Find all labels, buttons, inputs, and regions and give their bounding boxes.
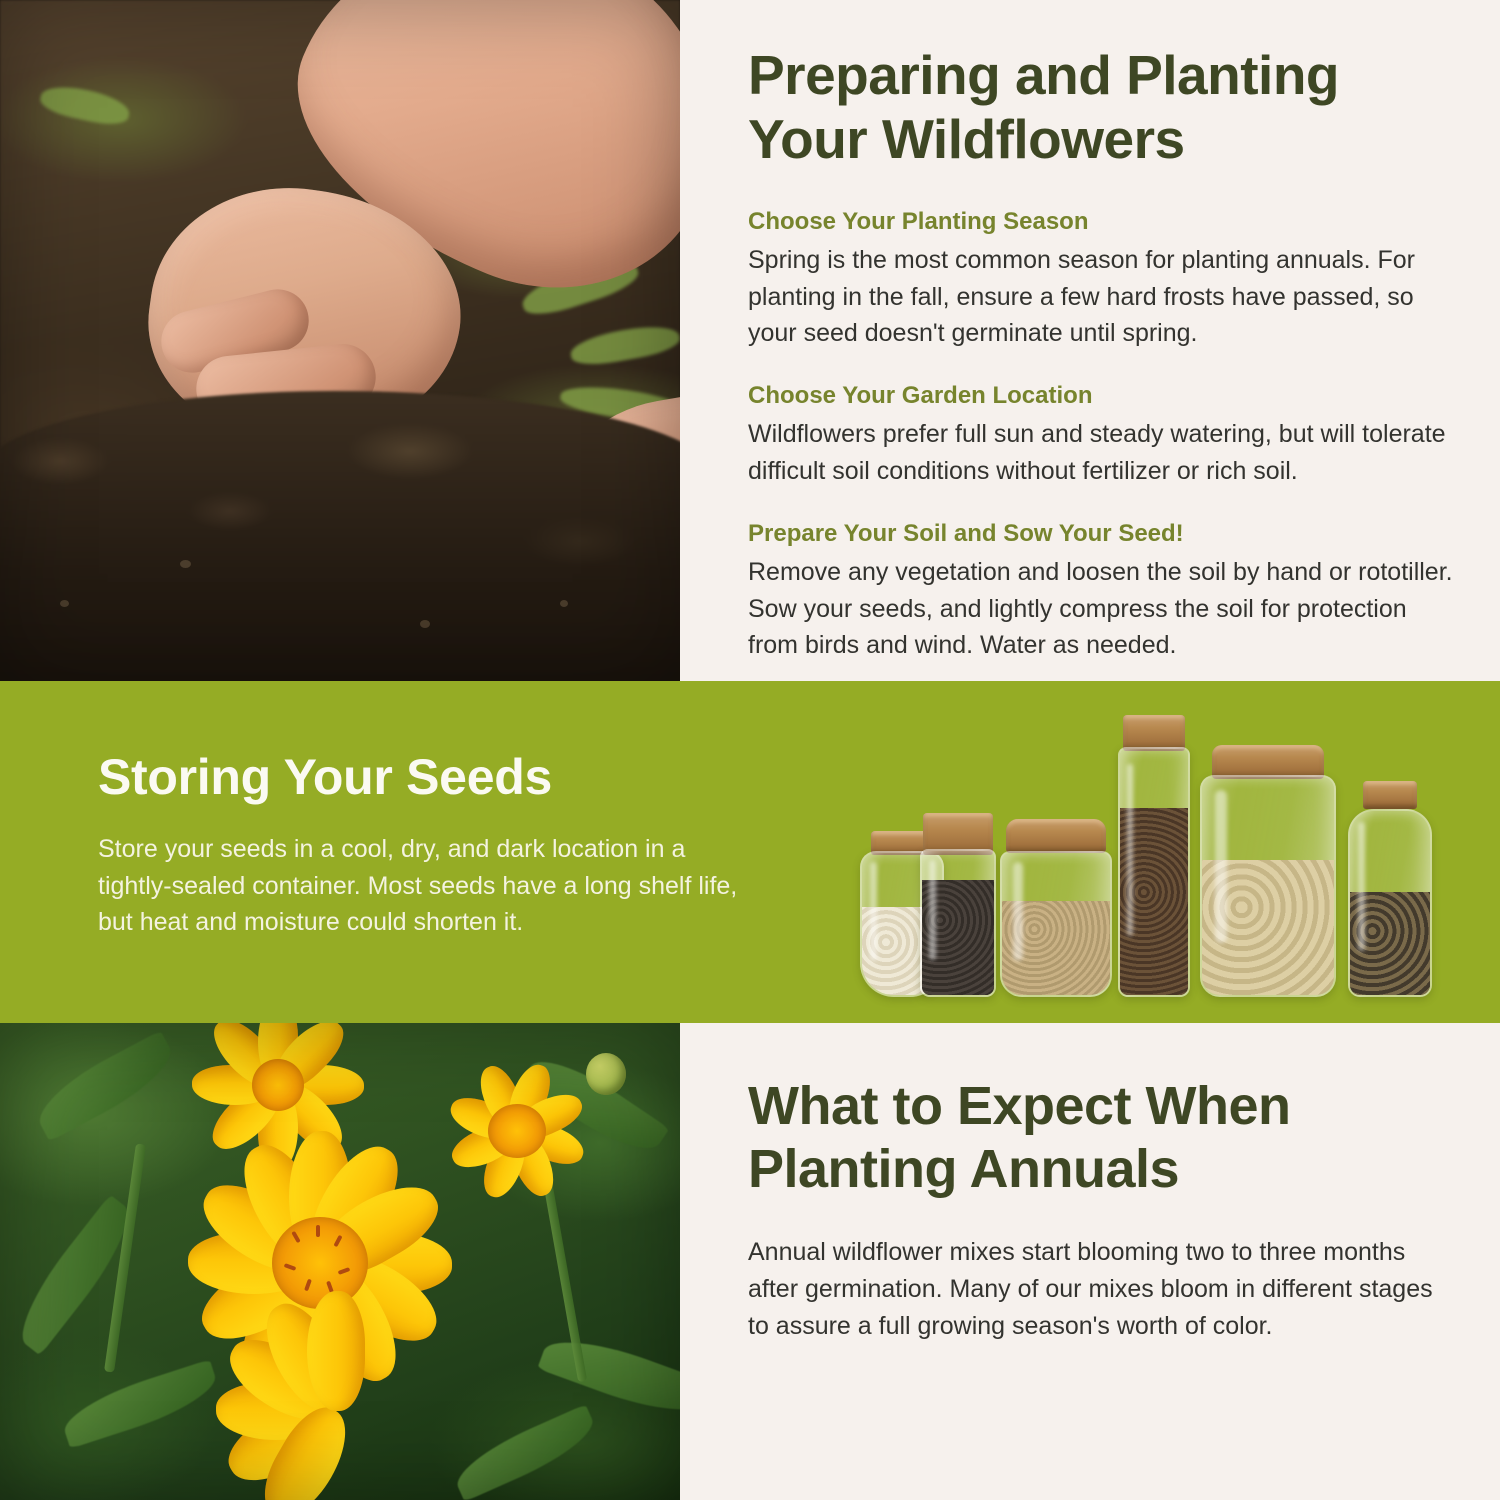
- storing-seeds-title: Storing Your Seeds: [98, 750, 758, 805]
- section-storing-your-seeds: Storing Your Seeds Store your seeds in a…: [0, 681, 1500, 1023]
- jar-glass: [1200, 775, 1336, 997]
- yellow-coreopsis-flower-image: [0, 1023, 680, 1500]
- glass-highlight: [1215, 790, 1227, 943]
- subsection-planting-season: Choose Your Planting Season Spring is th…: [748, 206, 1460, 352]
- cork-lid-icon: [1123, 715, 1185, 751]
- subsection-garden-location: Choose Your Garden Location Wildflowers …: [748, 380, 1460, 490]
- seed-jar-pumpkin-seeds: [1200, 745, 1336, 997]
- subsection-body: Wildflowers prefer full sun and steady w…: [748, 416, 1460, 490]
- jar-glass: [920, 849, 996, 997]
- infographic-page: Preparing and Planting Your Wildflowers …: [0, 0, 1500, 1500]
- subsection-prepare-soil: Prepare Your Soil and Sow Your Seed! Rem…: [748, 518, 1460, 664]
- green-band-text: Storing Your Seeds Store your seeds in a…: [98, 750, 758, 941]
- section-preparing-and-planting: Preparing and Planting Your Wildflowers …: [0, 0, 1500, 681]
- glass-highlight: [1127, 764, 1133, 936]
- glass-highlight: [1358, 822, 1365, 951]
- storing-seeds-body: Store your seeds in a cool, dry, and dar…: [98, 831, 758, 941]
- photo-vignette: [0, 0, 680, 681]
- jar-glass: [1348, 809, 1432, 997]
- top-text-column: Preparing and Planting Your Wildflowers …: [748, 0, 1460, 681]
- cork-lid-icon: [1363, 781, 1417, 809]
- section-what-to-expect: What to Expect When Planting Annuals Ann…: [0, 1023, 1500, 1500]
- seed-jar-black-seed: [920, 813, 996, 997]
- bottom-text-column: What to Expect When Planting Annuals Ann…: [748, 1023, 1460, 1500]
- subsection-body: Remove any vegetation and loosen the soi…: [748, 554, 1460, 664]
- seed-jar-tan-seed: [1000, 819, 1112, 997]
- cork-lid-icon: [1006, 819, 1106, 853]
- glass-highlight: [1013, 862, 1023, 961]
- subsection-heading: Choose Your Garden Location: [748, 380, 1460, 411]
- seed-jar-mixed-seed: [1348, 781, 1432, 997]
- page-title: Preparing and Planting Your Wildflowers: [748, 44, 1460, 172]
- seed-jar-tall-tube: [1118, 715, 1190, 997]
- subsection-heading: Choose Your Planting Season: [748, 206, 1460, 237]
- subsection-heading: Prepare Your Soil and Sow Your Seed!: [748, 518, 1460, 549]
- what-to-expect-title: What to Expect When Planting Annuals: [748, 1075, 1460, 1200]
- seed-jars-image: [852, 697, 1452, 1007]
- photo-vignette: [0, 1023, 680, 1500]
- subsection-body: Spring is the most common season for pla…: [748, 242, 1460, 352]
- glass-highlight: [929, 860, 935, 961]
- glass-highlight: [870, 862, 877, 961]
- jar-glass: [1000, 851, 1112, 997]
- cork-lid-icon: [1212, 745, 1324, 779]
- what-to-expect-body: Annual wildflower mixes start blooming t…: [748, 1234, 1460, 1344]
- jar-glass: [1118, 747, 1190, 997]
- hands-sowing-seeds-in-soil-image: [0, 0, 680, 681]
